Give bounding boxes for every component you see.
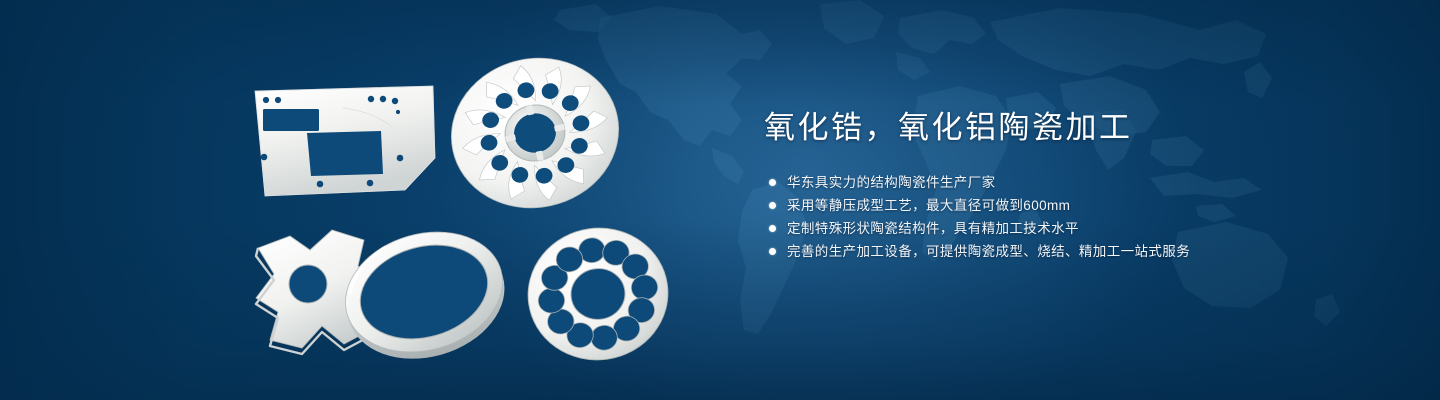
feature-text: 定制特殊形状陶瓷结构件，具有精加工技术水平 <box>787 217 1079 240</box>
feature-list: 华东具实力的结构陶瓷件生产厂家 采用等静压成型工艺，最大直径可做到600mm 定… <box>764 171 1324 263</box>
feature-list-item: 华东具实力的结构陶瓷件生产厂家 <box>769 171 1324 194</box>
hero-banner: 氧化锆，氧化铝陶瓷加工 华东具实力的结构陶瓷件生产厂家 采用等静压成型工艺，最大… <box>0 0 1440 400</box>
feature-list-item: 完善的生产加工设备，可提供陶瓷成型、烧结、精加工一站式服务 <box>769 240 1324 263</box>
ceramic-ring-image <box>332 224 522 364</box>
bullet-dot-icon <box>769 202 776 209</box>
ceramic-impeller-image <box>440 48 630 218</box>
ceramic-disc-image <box>518 222 678 370</box>
feature-list-item: 定制特殊形状陶瓷结构件，具有精加工技术水平 <box>769 217 1324 240</box>
feature-text: 采用等静压成型工艺，最大直径可做到600mm <box>787 194 1070 217</box>
product-photo-group <box>0 0 720 400</box>
bullet-dot-icon <box>769 179 776 186</box>
feature-list-item: 采用等静压成型工艺，最大直径可做到600mm <box>769 194 1324 217</box>
feature-text: 华东具实力的结构陶瓷件生产厂家 <box>787 171 996 194</box>
ceramic-plate-image <box>243 72 443 202</box>
banner-copy: 氧化锆，氧化铝陶瓷加工 华东具实力的结构陶瓷件生产厂家 采用等静压成型工艺，最大… <box>764 108 1324 263</box>
bullet-dot-icon <box>769 225 776 232</box>
bullet-dot-icon <box>769 248 776 255</box>
banner-headline: 氧化锆，氧化铝陶瓷加工 <box>764 108 1324 148</box>
feature-text: 完善的生产加工设备，可提供陶瓷成型、烧结、精加工一站式服务 <box>787 240 1190 263</box>
